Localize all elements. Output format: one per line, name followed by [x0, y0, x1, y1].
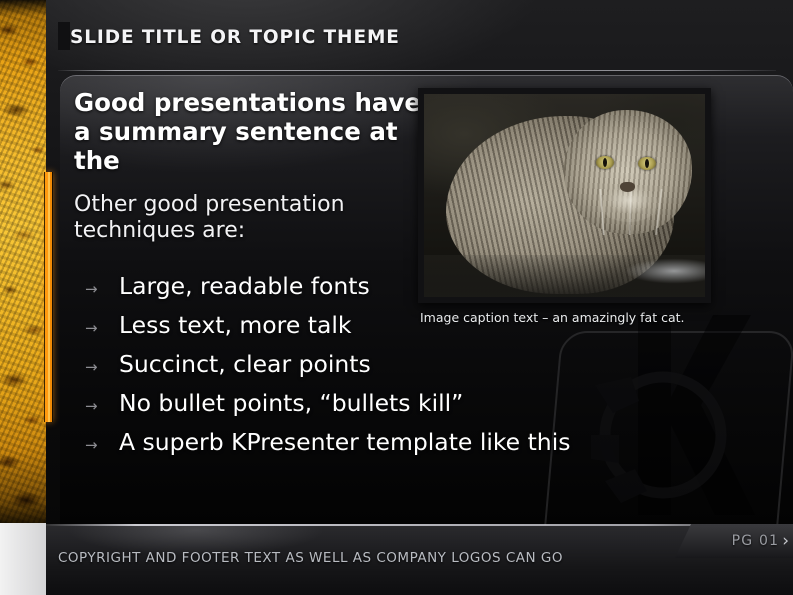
- slide-image: [418, 88, 711, 303]
- slide-subhead: Other good presentation techniques are:: [74, 192, 444, 245]
- arrow-icon: →: [85, 399, 119, 414]
- footer-text: COPYRIGHT AND FOOTER TEXT AS WELL AS COM…: [58, 550, 563, 566]
- orange-accent-bar: [44, 172, 53, 422]
- arrow-icon: →: [85, 282, 119, 297]
- chevron-right-icon[interactable]: ›: [782, 533, 789, 550]
- page-number-tab[interactable]: PG 01 ›: [675, 524, 793, 558]
- content-panel: Good presentations have a summary senten…: [60, 75, 793, 525]
- title-block-accent: [58, 22, 70, 50]
- decorative-footer-block: [0, 523, 46, 595]
- title-bar: SLIDE TITLE OR TOPIC THEME: [46, 0, 793, 70]
- list-item-label: A superb KPresenter template like this: [119, 428, 570, 456]
- list-item-label: Less text, more talk: [119, 311, 352, 339]
- arrow-icon: →: [85, 360, 119, 375]
- arrow-icon: →: [85, 438, 119, 453]
- slide-footer: COPYRIGHT AND FOOTER TEXT AS WELL AS COM…: [46, 526, 793, 595]
- photo-ledge: [424, 255, 705, 297]
- decorative-fire-strip: [0, 0, 46, 523]
- image-caption: Image caption text – an amazingly fat ca…: [418, 310, 711, 325]
- list-item: → A superb KPresenter template like this: [85, 428, 765, 467]
- image-block: Image caption text – an amazingly fat ca…: [418, 88, 711, 325]
- slide-headline: Good presentations have a summary senten…: [74, 89, 434, 176]
- page-number-label: PG 01: [732, 533, 780, 549]
- list-item-label: Succinct, clear points: [119, 350, 371, 378]
- list-item-label: Large, readable fonts: [119, 272, 370, 300]
- title-divider: [58, 70, 776, 71]
- list-item: → Succinct, clear points: [85, 350, 765, 389]
- arrow-icon: →: [85, 321, 119, 336]
- list-item-label: No bullet points, “bullets kill”: [119, 389, 463, 417]
- presentation-slide: SLIDE TITLE OR TOPIC THEME Good p: [0, 0, 793, 595]
- list-item: → No bullet points, “bullets kill”: [85, 389, 765, 428]
- page-title: SLIDE TITLE OR TOPIC THEME: [70, 27, 400, 48]
- photo-cat-pupil-left: [603, 158, 607, 167]
- photo-cat-pupil-right: [645, 159, 649, 168]
- photo-cat-whiskers: [574, 189, 711, 235]
- photo-cat-nose: [620, 182, 635, 192]
